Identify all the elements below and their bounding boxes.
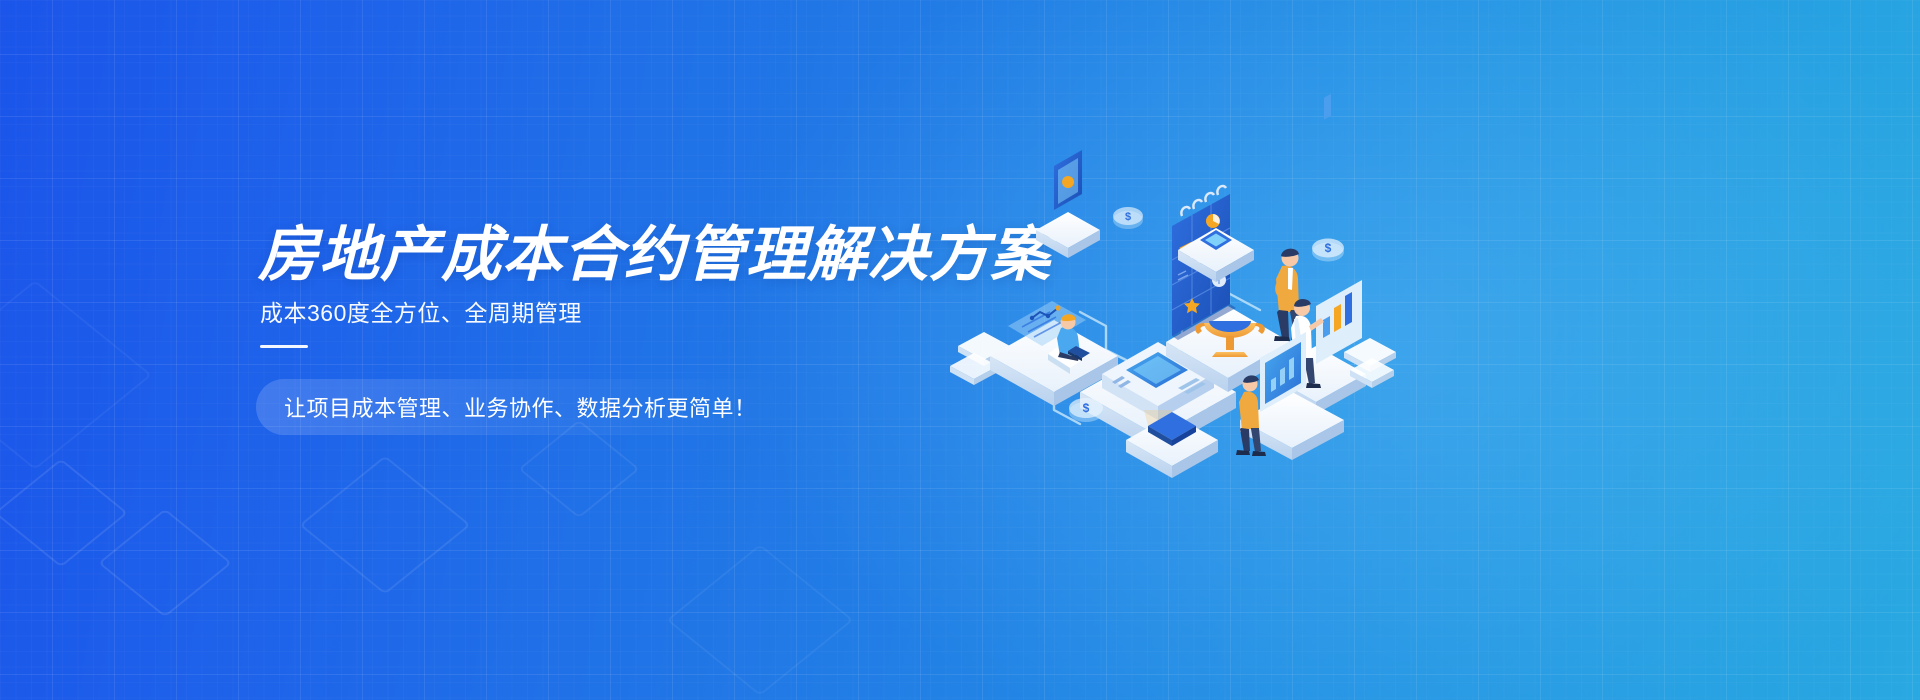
hero-content: 房地产成本合约管理解决方案 成本360度全方位、全周期管理 让项目成本管理、业务… bbox=[258, 0, 1018, 700]
hero-banner: 房地产成本合约管理解决方案 成本360度全方位、全周期管理 让项目成本管理、业务… bbox=[0, 0, 1920, 700]
coin-badge: $ bbox=[1069, 398, 1103, 422]
hero-tagline-pill: 让项目成本管理、业务协作、数据分析更简单！ bbox=[256, 379, 791, 435]
title-divider bbox=[260, 345, 308, 348]
coin-badge: $ bbox=[1312, 239, 1344, 262]
presentation-board bbox=[1316, 94, 1362, 364]
svg-text:$: $ bbox=[1325, 241, 1332, 255]
hero-tagline-text: 让项目成本管理、业务协作、数据分析更简单！ bbox=[284, 391, 757, 423]
decorative-diamond bbox=[0, 280, 152, 470]
svg-text:$: $ bbox=[1125, 211, 1131, 223]
phone-device bbox=[1054, 150, 1082, 210]
coin-badge: $ bbox=[1113, 207, 1143, 229]
svg-text:$: $ bbox=[1083, 401, 1090, 415]
hero-subtitle: 成本360度全方位、全周期管理 bbox=[260, 298, 582, 328]
decorative-diamond bbox=[98, 509, 232, 618]
decorative-diamond bbox=[0, 459, 128, 568]
phone-platform bbox=[1036, 212, 1100, 258]
hero-illustration: i bbox=[930, 120, 1410, 440]
